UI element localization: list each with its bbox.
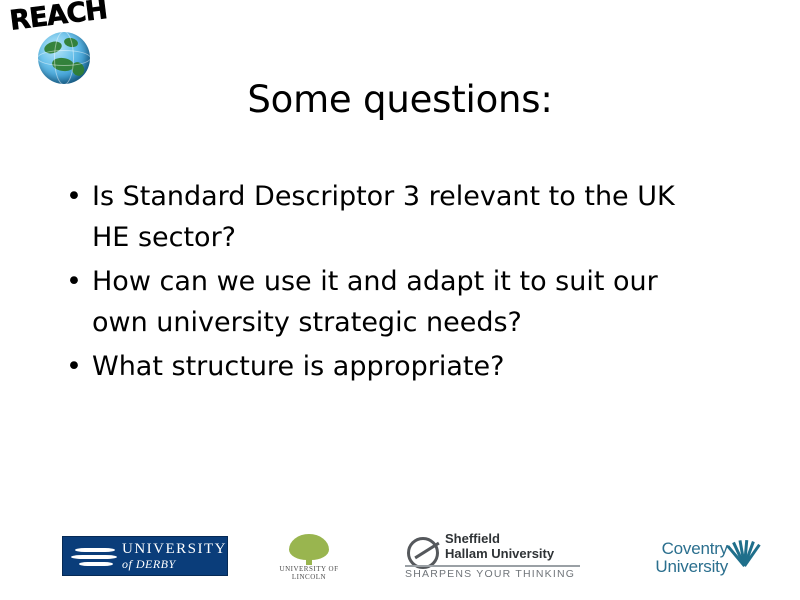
- logo-sheffield-hallam-university: Sheffield Hallam University SHARPENS YOU…: [405, 532, 585, 582]
- bullet-marker-icon: •: [60, 261, 92, 302]
- footer-logos: UNIVERSITY of DERBY UNIVERSITY OF LINCOL…: [0, 530, 800, 600]
- tree-icon: [289, 534, 329, 560]
- list-item: • What structure is appropriate?: [60, 346, 740, 387]
- list-item: • How can we use it and adapt it to suit…: [60, 261, 740, 343]
- coventry-line1: Coventry: [636, 540, 728, 558]
- hallam-line1: Sheffield: [445, 532, 554, 547]
- page-title: Some questions:: [0, 78, 800, 121]
- bullet-marker-icon: •: [60, 346, 92, 387]
- bullet-list: • Is Standard Descriptor 3 relevant to t…: [60, 176, 740, 390]
- logo-university-of-lincoln: UNIVERSITY OF LINCOLN: [276, 534, 342, 580]
- list-item-text: How can we use it and adapt it to suit o…: [92, 261, 712, 343]
- derby-line1: UNIVERSITY: [122, 542, 227, 558]
- globe-icon: [38, 32, 90, 84]
- circle-swoosh-icon: [405, 535, 441, 569]
- waves-icon: [67, 542, 118, 570]
- lincoln-line2: LINCOLN: [276, 574, 342, 582]
- list-item: • Is Standard Descriptor 3 relevant to t…: [60, 176, 740, 258]
- slide: REACH Some questions: • Is Standard Desc…: [0, 0, 800, 600]
- hallam-line2: Hallam University: [445, 547, 554, 562]
- crest-icon: [728, 532, 762, 566]
- list-item-text: What structure is appropriate?: [92, 346, 504, 387]
- reach-logo: REACH: [8, 6, 118, 84]
- logo-coventry-university: Coventry University: [636, 534, 766, 578]
- hallam-tagline: SHARPENS YOUR THINKING: [405, 568, 575, 580]
- divider: [405, 565, 580, 567]
- derby-line2: of DERBY: [122, 558, 227, 571]
- logo-university-of-derby: UNIVERSITY of DERBY: [62, 536, 228, 576]
- coventry-line2: University: [636, 558, 728, 576]
- reach-wordmark: REACH: [8, 0, 109, 37]
- list-item-text: Is Standard Descriptor 3 relevant to the…: [92, 176, 712, 258]
- bullet-marker-icon: •: [60, 176, 92, 217]
